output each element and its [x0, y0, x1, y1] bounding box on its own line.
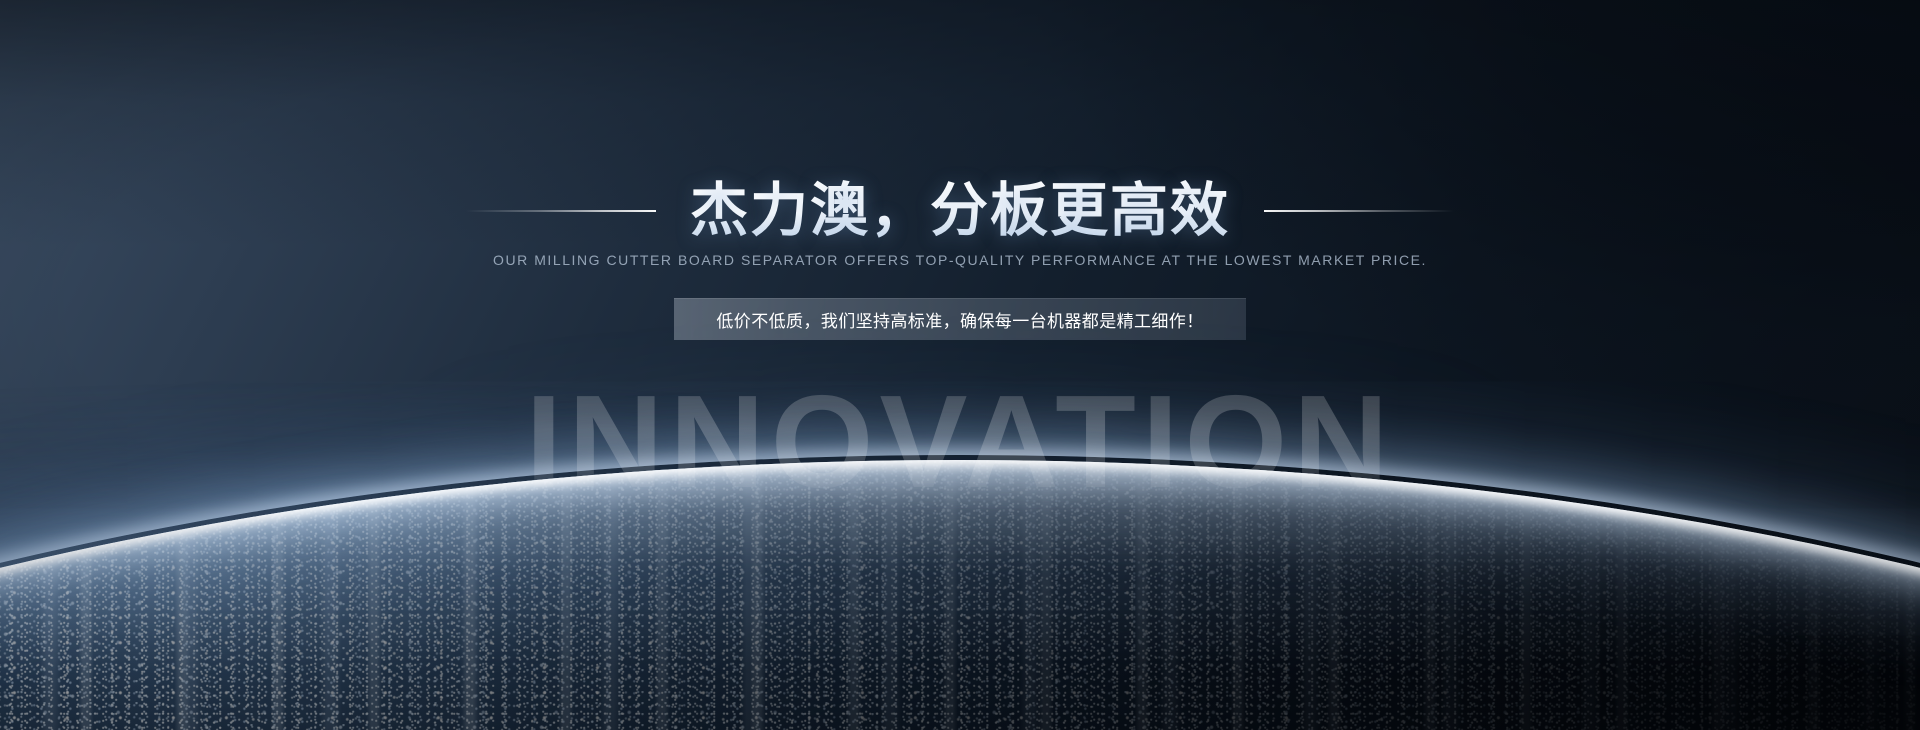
tagline-container: 低价不低质，我们坚持高标准，确保每一台机器都是精工细作！: [0, 298, 1920, 340]
hero-banner: INNOVATION 杰力澳，分板更高效 OUR MILLING CUTTER …: [0, 0, 1920, 730]
decorative-rule-right-icon: [1264, 210, 1454, 212]
page-title: 杰力澳，分板更高效: [690, 179, 1230, 244]
watermark-text: INNOVATION: [0, 376, 1920, 508]
decorative-rule-left-icon: [466, 210, 656, 212]
hero-subtitle: OUR MILLING CUTTER BOARD SEPARATOR OFFER…: [0, 252, 1920, 268]
hero-content: INNOVATION 杰力澳，分板更高效 OUR MILLING CUTTER …: [0, 0, 1920, 730]
hero-tagline-bar: 低价不低质，我们坚持高标准，确保每一台机器都是精工细作！: [674, 298, 1246, 340]
